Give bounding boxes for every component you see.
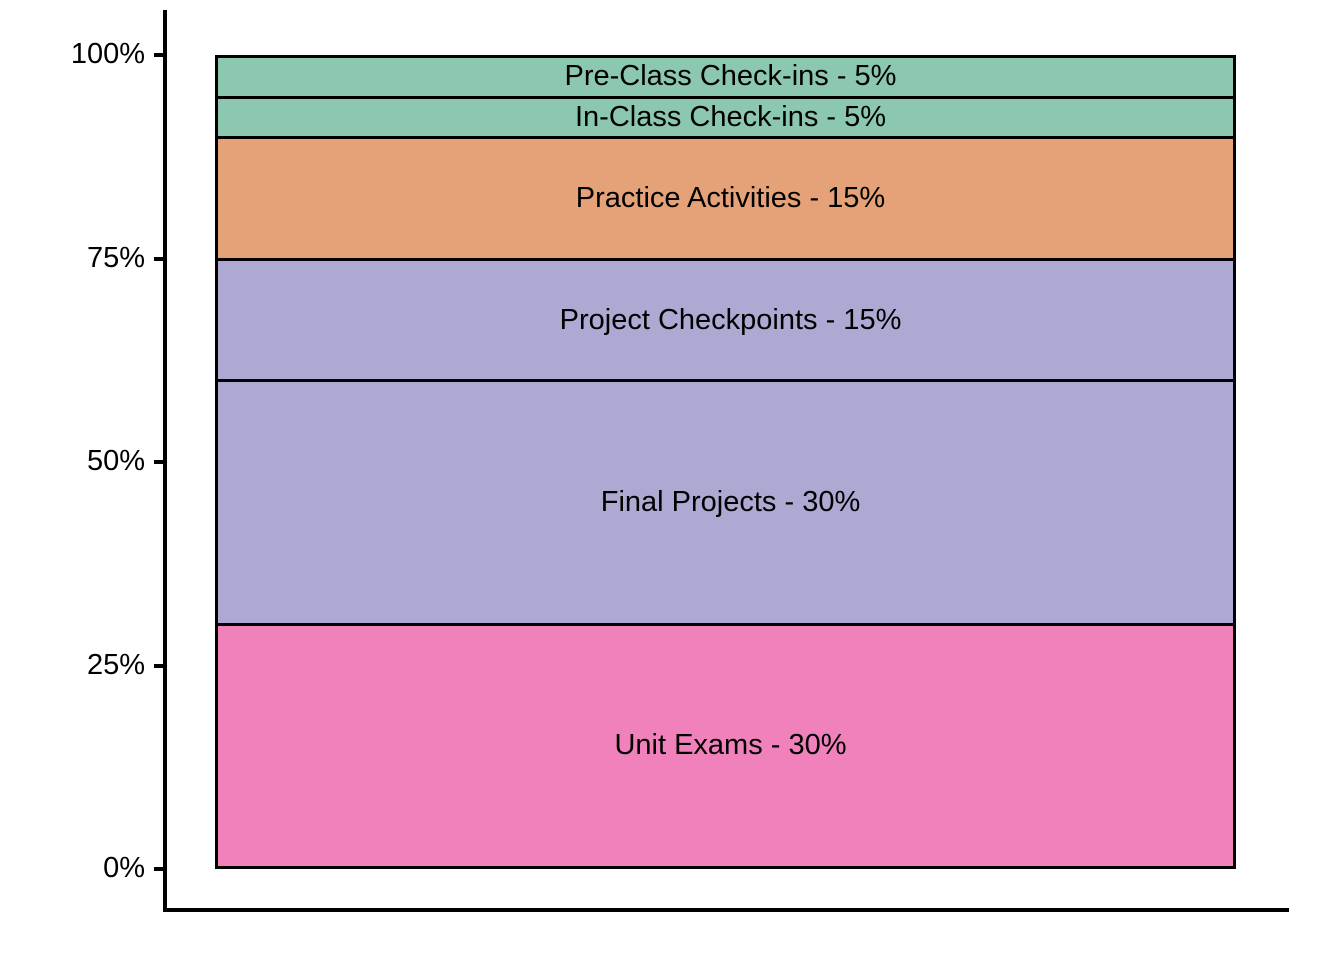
y-axis-tick-label: 50% [87,447,154,476]
bar-segment[interactable]: In-Class Check-ins - 5% [215,96,1236,140]
bar-segment-label: In-Class Check-ins - 5% [575,103,886,132]
chart-figure: 100%75%50%25%0% Pre-Class Check-ins - 5%… [0,0,1344,960]
bar-segment[interactable]: Pre-Class Check-ins - 5% [215,55,1236,99]
y-axis-tick-mark [154,53,165,57]
bar-segment-label: Project Checkpoints - 15% [560,306,902,335]
y-axis-tick-label: 25% [87,651,154,680]
bar-segment-label: Pre-Class Check-ins - 5% [565,62,897,91]
y-axis-tick-mark [154,460,165,464]
y-axis-tick-mark [154,257,165,261]
bar-segment-label: Unit Exams - 30% [614,731,846,760]
stacked-bar: Pre-Class Check-ins - 5%In-Class Check-i… [215,55,1236,869]
y-axis-tick-mark [154,664,165,668]
bar-segment[interactable]: Final Projects - 30% [215,379,1236,625]
bar-segment[interactable]: Practice Activities - 15% [215,136,1236,261]
y-axis-tick-label: 0% [103,854,154,883]
x-axis-spine [163,908,1289,912]
y-axis-tick-label: 75% [87,244,154,273]
bar-segment[interactable]: Unit Exams - 30% [215,623,1236,869]
bar-segment-label: Final Projects - 30% [601,488,861,517]
y-axis-tick-mark [154,867,165,871]
bar-segment[interactable]: Project Checkpoints - 15% [215,258,1236,383]
bar-segment-label: Practice Activities - 15% [576,184,885,213]
y-axis-tick-label: 100% [71,40,154,69]
